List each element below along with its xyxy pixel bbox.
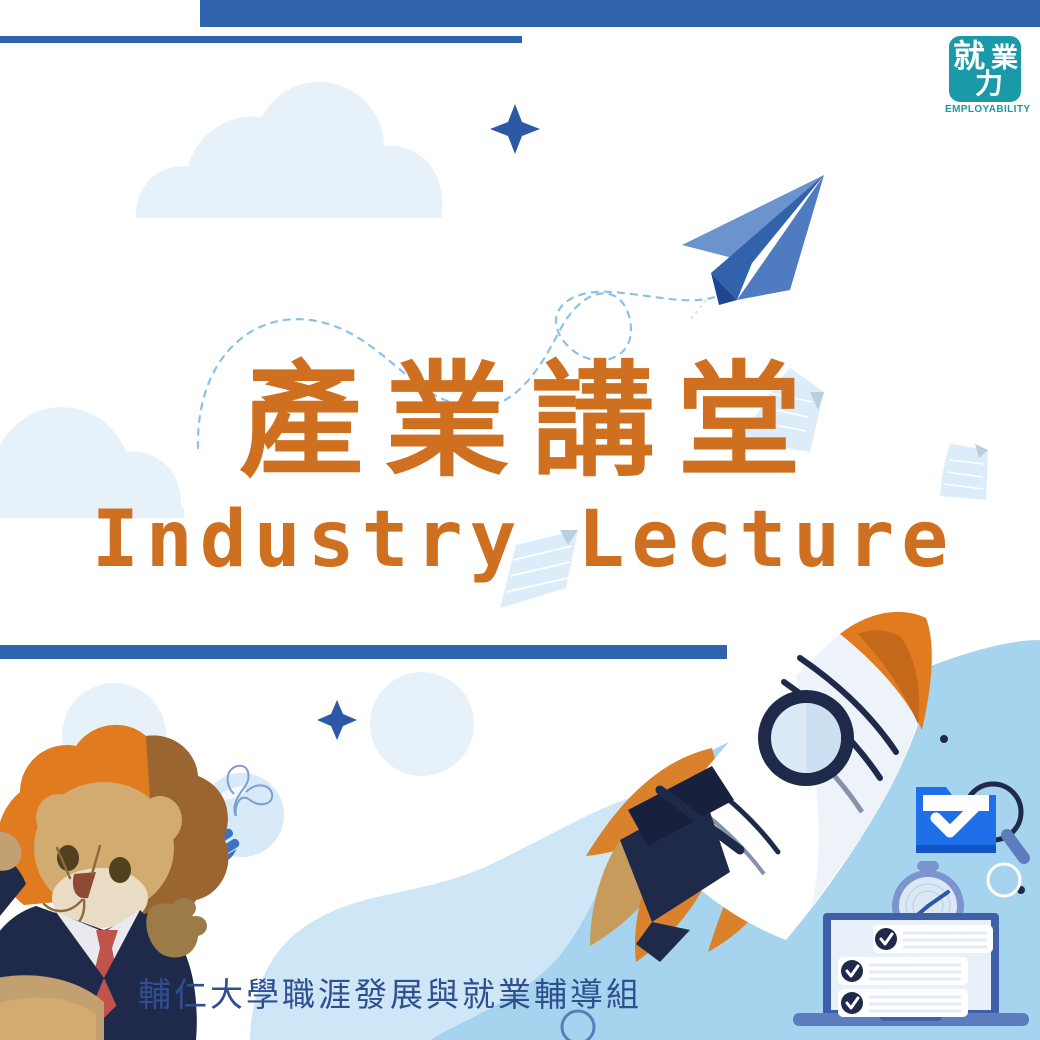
- logo-wordmark: EMPLOYABILITY: [945, 104, 1025, 115]
- top-blue-bar: [200, 0, 1040, 27]
- employability-logo-badge: 就 業 力: [949, 36, 1021, 102]
- logo-glyph-jiu: 就: [953, 40, 985, 72]
- poster-title-english: Industry Lecture: [0, 500, 1040, 582]
- mid-blue-bar: [0, 645, 727, 659]
- organization-name: 輔仁大學職涯發展與就業輔導組: [138, 968, 642, 1016]
- poster-canvas: 就 業 力 EMPLOYABILITY 產業講堂 Industry Lectur…: [0, 0, 1040, 1040]
- thin-blue-rule: [0, 36, 522, 43]
- poster-title-chinese: 產業講堂: [0, 358, 1040, 488]
- logo-glyph-ye: 業: [991, 45, 1018, 72]
- logo-glyph-li: 力: [975, 71, 1003, 99]
